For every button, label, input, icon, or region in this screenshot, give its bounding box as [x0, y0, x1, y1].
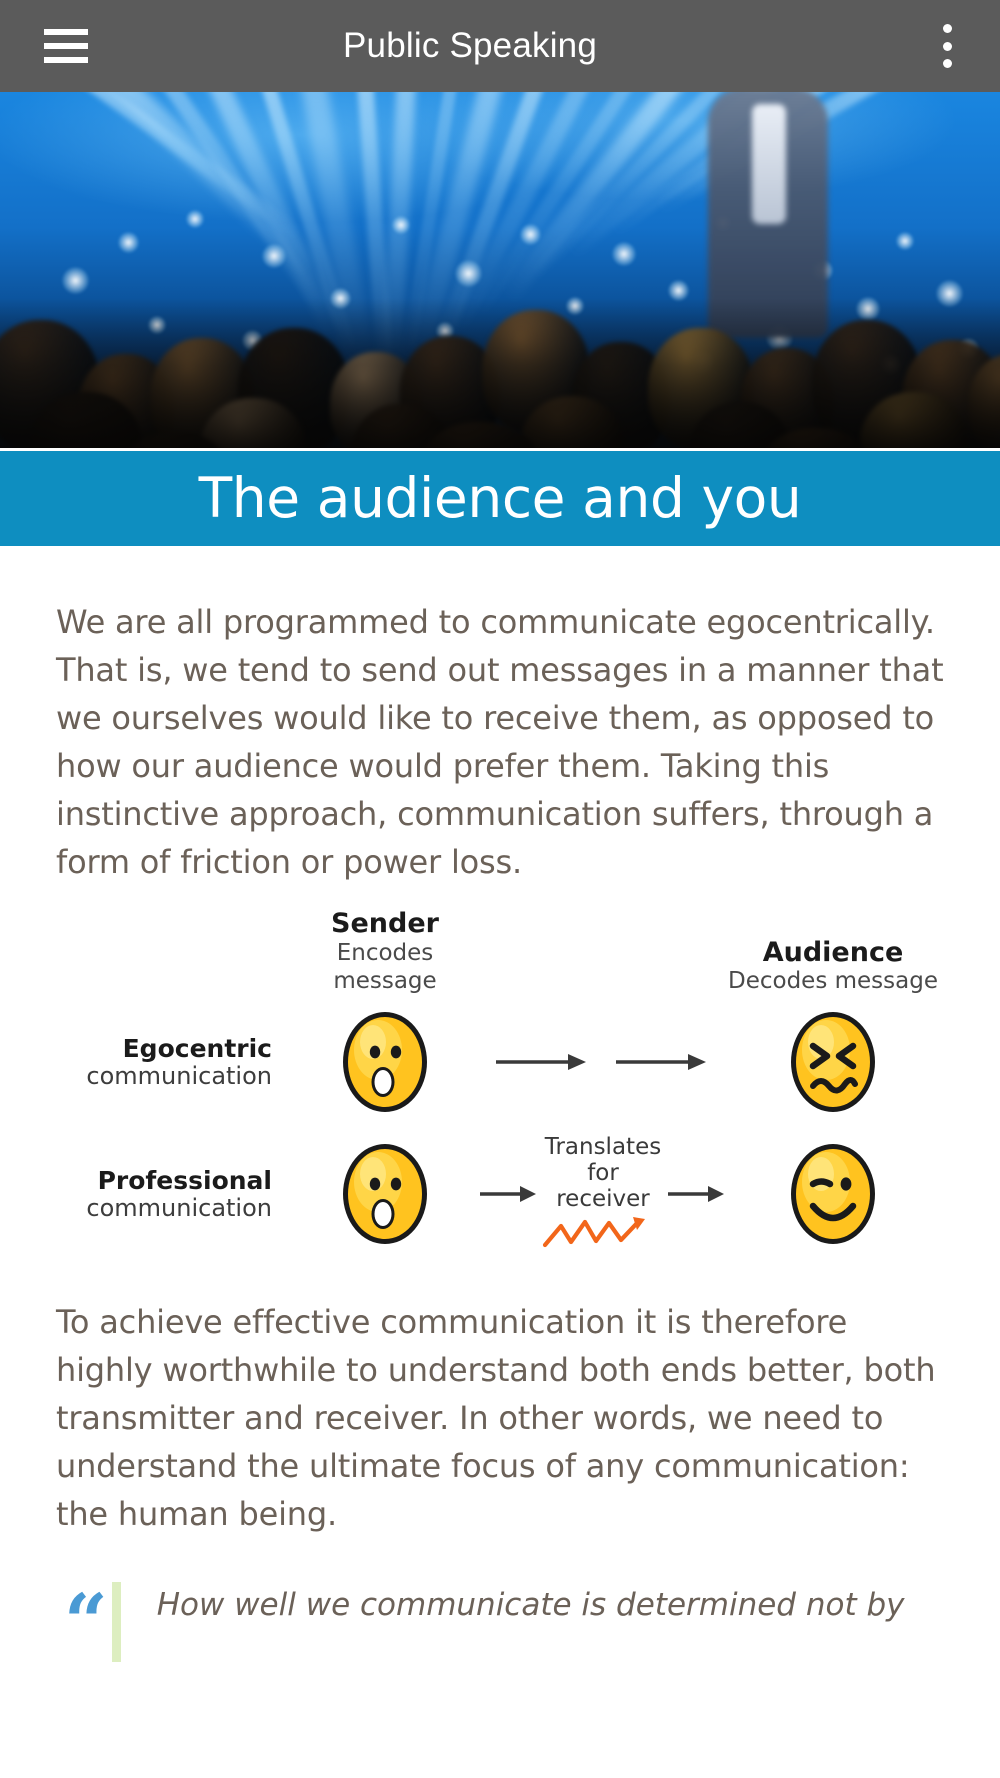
- page-title: The audience and you: [199, 471, 802, 526]
- quote-accent-bar: [112, 1582, 121, 1662]
- professional-sender-cell: [286, 1138, 484, 1250]
- app-title: Public Speaking: [0, 26, 1000, 66]
- more-dot-3: [943, 59, 952, 68]
- stage-light-dot: [896, 232, 914, 250]
- body-paragraph-1: We are all programmed to communicate ego…: [56, 598, 944, 886]
- more-dot-1: [943, 24, 952, 33]
- more-vertical-icon[interactable]: [942, 24, 952, 68]
- arrow-right-icon: [478, 1179, 540, 1209]
- stage-light-dot: [148, 316, 166, 334]
- more-dot-2: [943, 42, 952, 51]
- audience-subtitle: Decodes message: [722, 967, 944, 996]
- hamburger-menu-icon[interactable]: [44, 29, 88, 63]
- stage-light-dot: [186, 210, 204, 228]
- stage-light-dot: [62, 267, 89, 294]
- translates-for-receiver-block: Translates for receiver: [540, 1134, 666, 1255]
- egocentric-audience-cell: [722, 1006, 944, 1118]
- communication-diagram: Sender Encodes message Audience Decodes …: [56, 922, 944, 1260]
- stage-light-dot: [520, 224, 541, 245]
- stage-light-dot: [566, 297, 584, 315]
- speaking-face-icon: [337, 1006, 433, 1118]
- stage-light-dot: [668, 280, 689, 301]
- page-title-band: The audience and you: [0, 448, 1000, 546]
- quote-open-icon: “: [64, 1598, 108, 1645]
- speaking-face-icon: [337, 1138, 433, 1250]
- stage-light-dot: [612, 242, 636, 266]
- translates-line-1: Translates: [540, 1134, 666, 1160]
- zigzag-squiggle-icon: [541, 1214, 665, 1250]
- menu-bar-1: [44, 29, 88, 35]
- diagram-row-professional: Professional communication: [56, 1128, 944, 1260]
- double-arrow-icon: [488, 1045, 718, 1079]
- sender-title: Sender: [286, 909, 484, 938]
- quote-text: How well we communicate is determined no…: [157, 1582, 905, 1628]
- diagram-sender-header: Sender Encodes message: [286, 909, 484, 996]
- translates-line-2: for receiver: [540, 1160, 666, 1212]
- row-label-sub: communication: [56, 1063, 272, 1090]
- diagram-header-row: Sender Encodes message Audience Decodes …: [56, 922, 944, 996]
- hero-image: [0, 92, 1000, 448]
- body-paragraph-2: To achieve effective communication it is…: [56, 1298, 944, 1538]
- egocentric-middle-cell: [484, 1045, 722, 1079]
- menu-bar-2: [44, 43, 88, 49]
- stage-light-dot: [455, 260, 482, 287]
- stage-light-dot: [856, 297, 880, 321]
- menu-bar-3: [44, 57, 88, 63]
- stage-light-dot: [936, 280, 963, 307]
- arrow-right-icon: [666, 1179, 728, 1209]
- audience-title: Audience: [722, 938, 944, 967]
- stage-light-dot: [262, 244, 286, 268]
- row-label-professional: Professional communication: [56, 1167, 286, 1222]
- diagram-audience-header: Audience Decodes message: [722, 938, 944, 996]
- row-label-egocentric: Egocentric communication: [56, 1035, 286, 1090]
- professional-audience-cell: [722, 1138, 944, 1250]
- smiling-face-icon: [785, 1138, 881, 1250]
- row-label-main: Professional: [56, 1167, 272, 1195]
- stage-light-dot: [392, 216, 410, 234]
- app-bar: Public Speaking: [0, 0, 1000, 92]
- stage-light-dot: [118, 232, 139, 253]
- hero-speaker-shirt: [752, 104, 786, 224]
- confounded-face-icon: [785, 1006, 881, 1118]
- sender-subtitle: Encodes message: [286, 939, 484, 997]
- content-area: We are all programmed to communicate ego…: [0, 598, 1000, 1662]
- egocentric-sender-cell: [286, 1006, 484, 1118]
- pull-quote: “ How well we communicate is determined …: [56, 1582, 944, 1662]
- row-label-main: Egocentric: [56, 1035, 272, 1063]
- row-label-sub: communication: [56, 1195, 272, 1222]
- stage-light-dot: [330, 288, 351, 309]
- professional-middle-cell: Translates for receiver: [484, 1134, 722, 1255]
- diagram-row-egocentric: Egocentric communication: [56, 996, 944, 1128]
